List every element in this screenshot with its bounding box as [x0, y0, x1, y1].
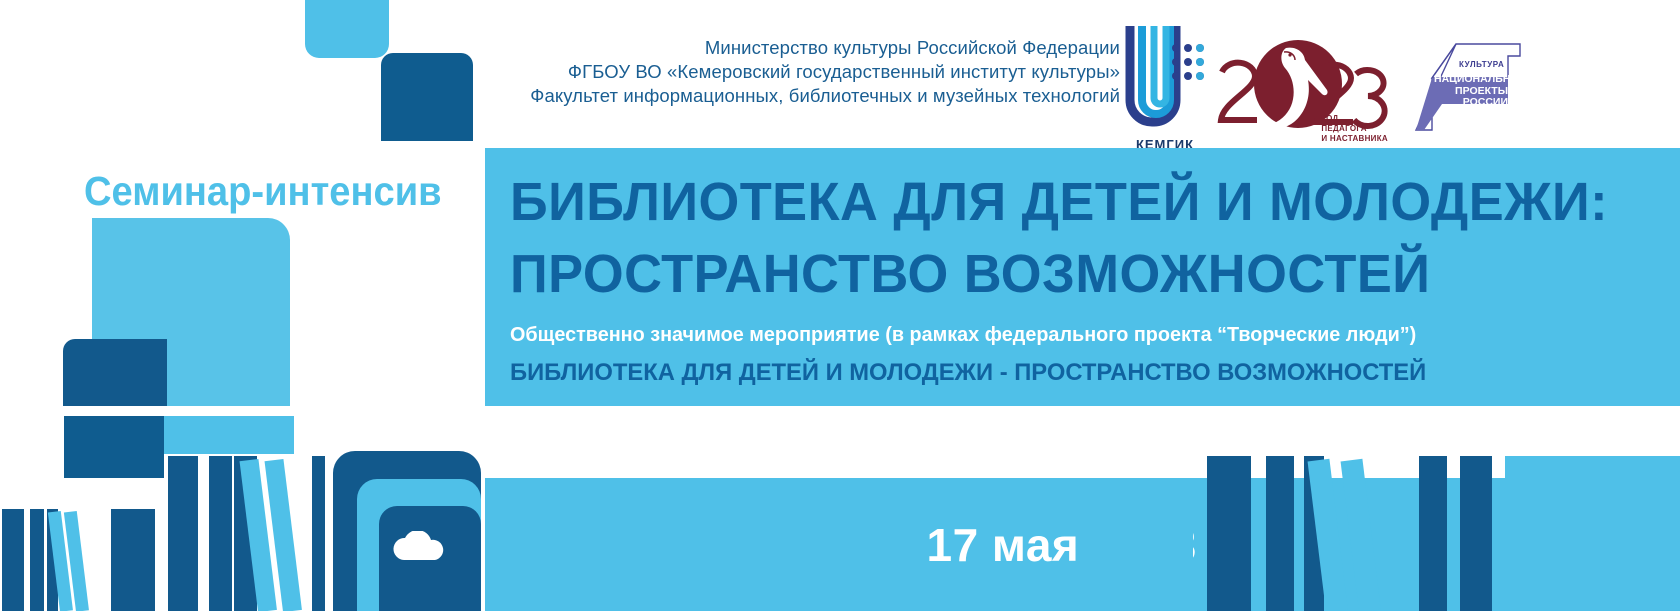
ministry-line-3: Факультет информационных, библиотечных и…	[520, 84, 1120, 108]
national-projects-logo: КУЛЬТУРА НАЦИОНАЛЬНЫЕ ПРОЕКТЫ РОССИИ	[1412, 34, 1532, 144]
event-banner: Министерство культуры Российской Федерац…	[0, 0, 1680, 611]
event-subtitle-line-1: Общественно значимое мероприятие (в рамк…	[510, 322, 1416, 348]
decor-block-light	[164, 416, 294, 454]
event-title: БИБЛИОТЕКА ДЛЯ ДЕТЕЙ И МОЛОДЕЖИ: ПРОСТРА…	[510, 166, 1635, 310]
book-spine	[134, 509, 155, 611]
year-of-teacher-logo: ГОД ПЕДАГОГА И НАСТАВНИКА	[1210, 28, 1390, 148]
book-spine	[1419, 456, 1447, 611]
book-spine	[209, 456, 232, 611]
event-kicker: Семинар-интенсив	[84, 168, 442, 214]
yot-cap-1: ГОД	[1321, 114, 1388, 124]
kemgik-logo-icon	[1120, 22, 1210, 134]
book-spine	[1266, 456, 1294, 611]
decor-block-dark	[64, 416, 164, 478]
ministry-line-2: ФГБОУ ВО «Кемеровский государственный ин…	[520, 60, 1120, 84]
decor-square-mid-dark	[63, 339, 167, 406]
book-spine-light	[1080, 511, 1193, 611]
book-spine	[111, 509, 135, 611]
decor-square-top-dark	[381, 53, 473, 141]
book-spine	[168, 456, 198, 611]
book-spine-light	[1505, 456, 1680, 611]
book-spine	[2, 509, 24, 611]
yot-cap-3: И НАСТАВНИКА	[1321, 134, 1388, 144]
np-line-1: НАЦИОНАЛЬНЫЕ	[1434, 74, 1508, 86]
book-spine	[1460, 456, 1492, 611]
np-culture-label: КУЛЬТУРА	[1459, 60, 1504, 69]
event-title-line-1: БИБЛИОТЕКА ДЛЯ ДЕТЕЙ И МОЛОДЕЖИ:	[510, 166, 1635, 238]
cloud-icon	[391, 531, 449, 561]
np-main-label: НАЦИОНАЛЬНЫЕ ПРОЕКТЫ РОССИИ	[1434, 74, 1508, 109]
yot-cap-2: ПЕДАГОГА	[1321, 124, 1388, 134]
ministry-text-block: Министерство культуры Российской Федерац…	[520, 36, 1120, 108]
book-spine	[312, 456, 325, 611]
event-title-line-2: ПРОСТРАНСТВО ВОЗМОЖНОСТЕЙ	[510, 238, 1635, 310]
book-spine	[1207, 456, 1251, 611]
kemgik-logo: КЕМГИК	[1120, 22, 1210, 152]
book-spine	[30, 509, 44, 611]
np-line-3: РОССИИ	[1434, 97, 1508, 109]
ministry-line-1: Министерство культуры Российской Федерац…	[520, 36, 1120, 60]
year-of-teacher-caption: ГОД ПЕДАГОГА И НАСТАВНИКА	[1321, 114, 1388, 144]
event-subtitle-line-2: БИБЛИОТЕКА ДЛЯ ДЕТЕЙ И МОЛОДЕЖИ - ПРОСТР…	[510, 358, 1426, 388]
decor-square-top-light	[305, 0, 389, 58]
